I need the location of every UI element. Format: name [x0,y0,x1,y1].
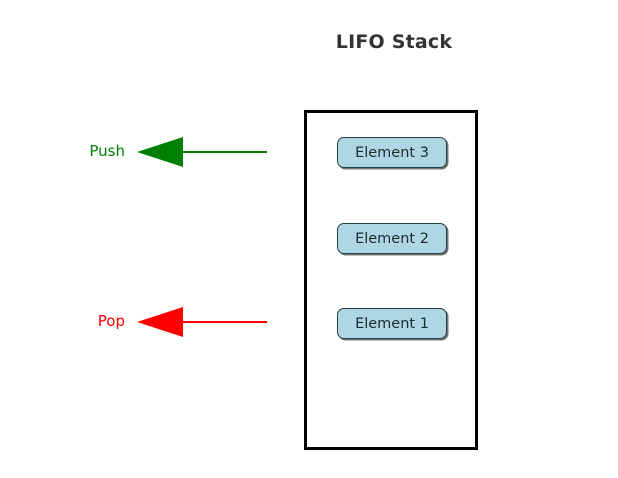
page-title: LIFO Stack [0,31,618,53]
pop-arrow-icon [130,300,275,344]
stack-element: Element 1 [337,308,447,339]
stack-element-label: Element 2 [355,231,429,247]
push-label: Push [0,141,125,161]
stack-element-label: Element 1 [355,316,429,332]
stack-element-label: Element 3 [355,145,429,161]
pop-label: Pop [0,311,125,331]
push-arrow-icon [130,130,275,174]
stack-element: Element 2 [337,223,447,254]
diagram-canvas: LIFO Stack Push Pop Element 1 Element 2 … [0,0,618,478]
page-title-text: LIFO Stack [336,31,452,53]
stack-element: Element 3 [337,137,447,168]
